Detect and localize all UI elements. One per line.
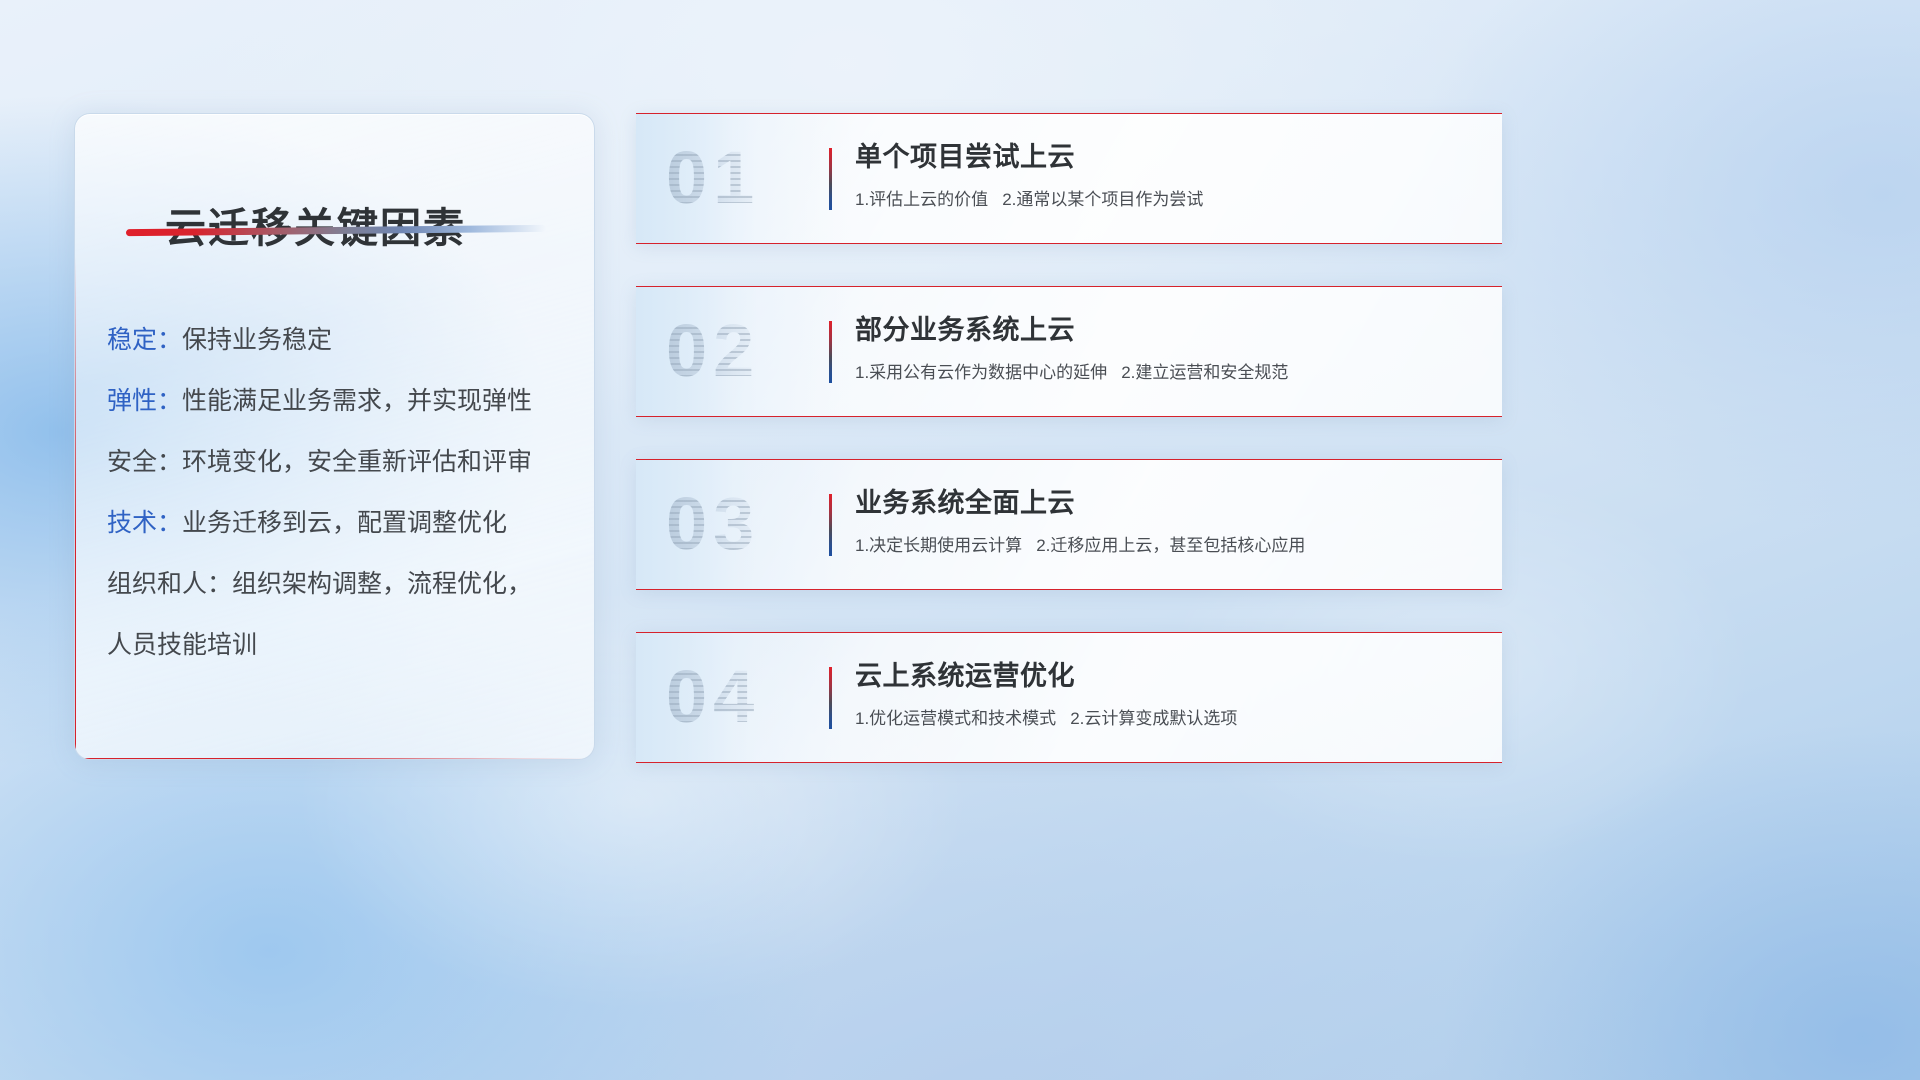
stage-desc-part-2: 2.云计算变成默认选项: [1070, 709, 1237, 728]
stage-card-04[interactable]: 04 云上系统运营优化 1.优化运营模式和技术模式2.云计算变成默认选项: [636, 632, 1502, 763]
factor-text: 组织架构调整，流程优化，: [232, 570, 532, 598]
stage-description: 1.采用公有云作为数据中心的延伸2.建立运营和安全规范: [855, 361, 1482, 385]
stage-desc-part-1: 1.评估上云的价值: [855, 190, 988, 209]
stage-card-body: 单个项目尝试上云 1.评估上云的价值2.通常以某个项目作为尝试: [855, 138, 1482, 212]
stage-title: 单个项目尝试上云: [855, 138, 1482, 176]
factor-text: 人员技能培训: [107, 631, 257, 659]
stage-accent-bar: [829, 667, 832, 729]
panel-bottom-accent-line: [75, 758, 594, 760]
stage-card-body: 业务系统全面上云 1.决定长期使用云计算2.迁移应用上云，甚至包括核心应用: [855, 484, 1482, 558]
stage-accent-bar: [829, 494, 832, 556]
factor-list: 稳定：保持业务稳定 弹性：性能满足业务需求，并实现弹性 安全：环境变化，安全重新…: [107, 310, 576, 676]
key-factors-panel: 云迁移关键因素 稳定：保持业务稳定 弹性：性能满足业务需求，并实现弹性 安全：环…: [74, 113, 595, 760]
stage-description: 1.评估上云的价值2.通常以某个项目作为尝试: [855, 188, 1482, 212]
migration-stage-list: 01 单个项目尝试上云 1.评估上云的价值2.通常以某个项目作为尝试 02 部分…: [636, 113, 1502, 805]
stage-card-01[interactable]: 01 单个项目尝试上云 1.评估上云的价值2.通常以某个项目作为尝试: [636, 113, 1502, 244]
panel-left-accent-line: [74, 256, 76, 759]
stage-number: 03: [666, 476, 760, 572]
stage-title: 云上系统运营优化: [855, 657, 1482, 695]
stage-card-02[interactable]: 02 部分业务系统上云 1.采用公有云作为数据中心的延伸2.建立运营和安全规范: [636, 286, 1502, 417]
stage-number: 01: [666, 130, 760, 226]
stage-description: 1.决定长期使用云计算2.迁移应用上云，甚至包括核心应用: [855, 534, 1482, 558]
factor-item-stability: 稳定：保持业务稳定: [107, 310, 576, 371]
factor-text: 性能满足业务需求，并实现弹性: [182, 387, 532, 415]
stage-title: 部分业务系统上云: [855, 311, 1482, 349]
stage-number: 02: [666, 303, 760, 399]
factor-label: 稳定：: [107, 326, 182, 354]
stage-accent-bar: [829, 148, 832, 210]
stage-description: 1.优化运营模式和技术模式2.云计算变成默认选项: [855, 707, 1482, 731]
stage-card-body: 云上系统运营优化 1.优化运营模式和技术模式2.云计算变成默认选项: [855, 657, 1482, 731]
factor-item-organization-cont: 人员技能培训: [107, 615, 576, 676]
stage-title: 业务系统全面上云: [855, 484, 1482, 522]
factor-label: 组织和人：: [107, 570, 232, 598]
stage-number: 04: [666, 649, 760, 745]
stage-desc-part-2: 2.迁移应用上云，甚至包括核心应用: [1036, 536, 1305, 555]
stage-desc-part-1: 1.采用公有云作为数据中心的延伸: [855, 363, 1107, 382]
stage-accent-bar: [829, 321, 832, 383]
factor-item-elasticity: 弹性：性能满足业务需求，并实现弹性: [107, 371, 576, 432]
factor-text: 保持业务稳定: [182, 326, 332, 354]
stage-desc-part-1: 1.优化运营模式和技术模式: [855, 709, 1056, 728]
stage-desc-part-2: 2.通常以某个项目作为尝试: [1002, 190, 1203, 209]
factor-label: 安全：: [107, 448, 182, 476]
stage-desc-part-1: 1.决定长期使用云计算: [855, 536, 1022, 555]
factor-label: 弹性：: [107, 387, 182, 415]
stage-card-03[interactable]: 03 业务系统全面上云 1.决定长期使用云计算2.迁移应用上云，甚至包括核心应用: [636, 459, 1502, 590]
stage-card-body: 部分业务系统上云 1.采用公有云作为数据中心的延伸2.建立运营和安全规范: [855, 311, 1482, 385]
factor-item-technology: 技术：业务迁移到云，配置调整优化: [107, 493, 576, 554]
factor-label: 技术：: [107, 509, 182, 537]
stage-desc-part-2: 2.建立运营和安全规范: [1121, 363, 1288, 382]
page-title: 云迁移关键因素: [165, 194, 466, 254]
factor-text: 环境变化，安全重新评估和评审: [182, 448, 532, 476]
factor-item-organization: 组织和人：组织架构调整，流程优化，: [107, 554, 576, 615]
factor-text: 业务迁移到云，配置调整优化: [182, 509, 507, 537]
factor-item-security: 安全：环境变化，安全重新评估和评审: [107, 432, 576, 493]
